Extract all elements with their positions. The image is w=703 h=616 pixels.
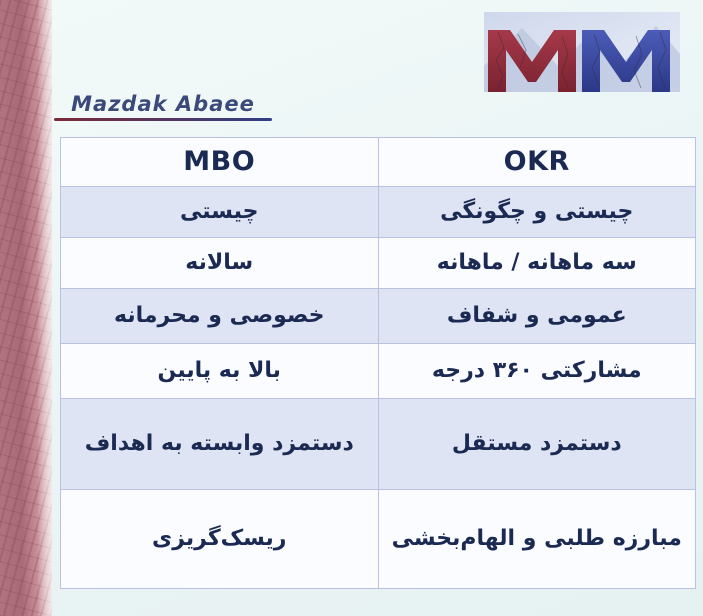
table-row: مبارزه طلبی و الهام‌بخشی ریسک‌گریزی — [61, 490, 696, 589]
cell-mbo: سالانه — [61, 238, 379, 289]
cell-mbo: چیستی — [61, 187, 379, 238]
cell-okr: عمومی و شفاف — [378, 289, 696, 344]
cell-mbo: خصوصی و محرمانه — [61, 289, 379, 344]
brand-header: Mazdak Abaee — [52, 6, 703, 128]
cell-okr: دستمزد مستقل — [378, 399, 696, 490]
mm-monogram-logo-icon — [470, 10, 692, 128]
okr-mbo-comparison-table: OKR MBO چیستی و چگونگی چیستی سه ماهانه /… — [60, 137, 696, 589]
cell-okr: مبارزه طلبی و الهام‌بخشی — [378, 490, 696, 589]
table-header-row: OKR MBO — [61, 138, 696, 187]
brand-underline — [54, 118, 272, 121]
table-row: دستمزد مستقل دستمزد وابسته به اهداف — [61, 399, 696, 490]
decorative-band-highlight — [38, 0, 52, 616]
header-okr: OKR — [378, 138, 696, 187]
brand-name: Mazdak Abaee — [52, 92, 274, 116]
table-row: مشارکتی ۳۶۰ درجه بالا به پایین — [61, 344, 696, 399]
cell-okr: سه ماهانه / ماهانه — [378, 238, 696, 289]
decorative-left-band — [0, 0, 52, 616]
cell-okr: چیستی و چگونگی — [378, 187, 696, 238]
slide-page: Mazdak Abaee OKR MBO چیستی و چگونگی چیست… — [52, 0, 703, 616]
table-row: سه ماهانه / ماهانه سالانه — [61, 238, 696, 289]
table-row: عمومی و شفاف خصوصی و محرمانه — [61, 289, 696, 344]
cell-mbo: دستمزد وابسته به اهداف — [61, 399, 379, 490]
table-row: چیستی و چگونگی چیستی — [61, 187, 696, 238]
header-mbo: MBO — [61, 138, 379, 187]
cell-mbo: ریسک‌گریزی — [61, 490, 379, 589]
cell-okr: مشارکتی ۳۶۰ درجه — [378, 344, 696, 399]
cell-mbo: بالا به پایین — [61, 344, 379, 399]
